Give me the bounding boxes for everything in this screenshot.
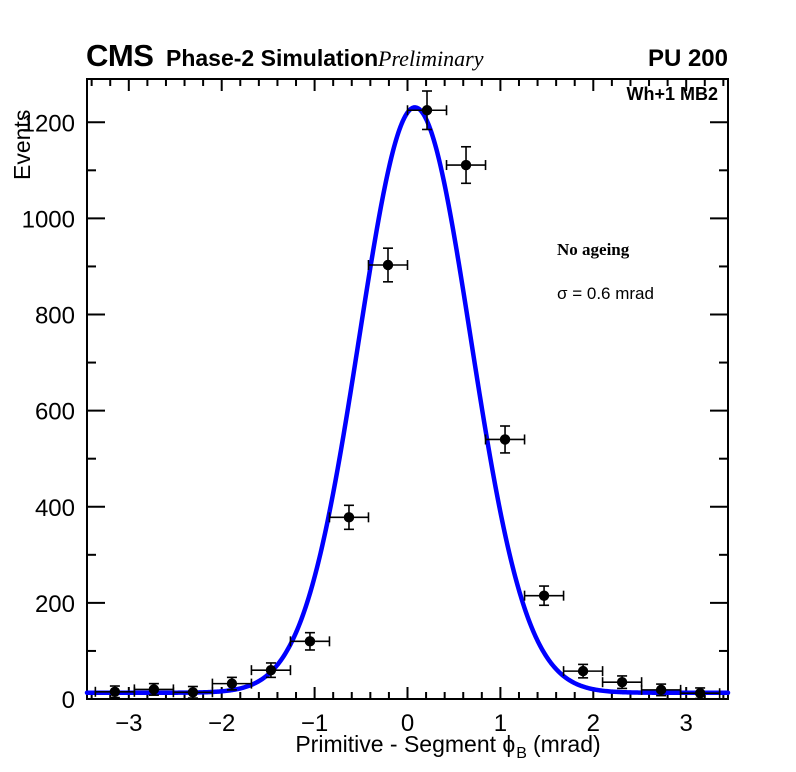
header-pileup-label: PU 200: [648, 45, 728, 72]
y-tick-label: 600: [35, 399, 75, 426]
x-tick-label: 3: [680, 710, 693, 737]
x-tick-label: −2: [208, 710, 235, 737]
y-tick-label: 200: [35, 591, 75, 618]
y-tick-label: 800: [35, 303, 75, 330]
data-point: [564, 664, 603, 677]
x-axis-title-subscript: B: [516, 745, 527, 762]
data-point: [173, 687, 212, 699]
data-point: [408, 91, 447, 129]
data-point: [603, 676, 642, 688]
header-simulation-label: Phase-2 Simulation: [166, 45, 378, 71]
data-points-layer: [95, 91, 719, 699]
wheel-station-label: Wh+1 MB2: [626, 84, 718, 104]
y-tick-label: 0: [62, 687, 75, 714]
data-point: [251, 663, 290, 677]
ageing-annotation: No ageing: [557, 240, 630, 259]
header-cms-label: CMS: [86, 38, 153, 73]
y-tick-label: 1000: [22, 206, 75, 233]
header-preliminary-label: Preliminary: [377, 46, 484, 71]
plot-frame: [87, 79, 728, 699]
physics-plot-svg: CMS Phase-2 Simulation Preliminary PU 20…: [0, 0, 796, 772]
axis-ticks: [87, 79, 728, 699]
data-point: [486, 426, 525, 453]
y-tick-label: 400: [35, 495, 75, 522]
gaussian-fit-curve: [87, 107, 728, 692]
x-axis-title-main: Primitive - Segment ϕ: [295, 731, 515, 757]
resolution-annotation: σ = 0.6 mrad: [557, 284, 654, 303]
data-point: [525, 586, 564, 605]
x-axis-title-unit: (mrad): [533, 731, 601, 757]
y-axis-title: Events: [9, 110, 35, 180]
x-tick-label: −3: [115, 710, 142, 737]
data-point: [447, 147, 486, 184]
data-point: [329, 505, 368, 529]
y-axis-tick-labels: 020040060080010001200: [22, 110, 75, 714]
plot-canvas: CMS Phase-2 Simulation Preliminary PU 20…: [0, 0, 796, 772]
